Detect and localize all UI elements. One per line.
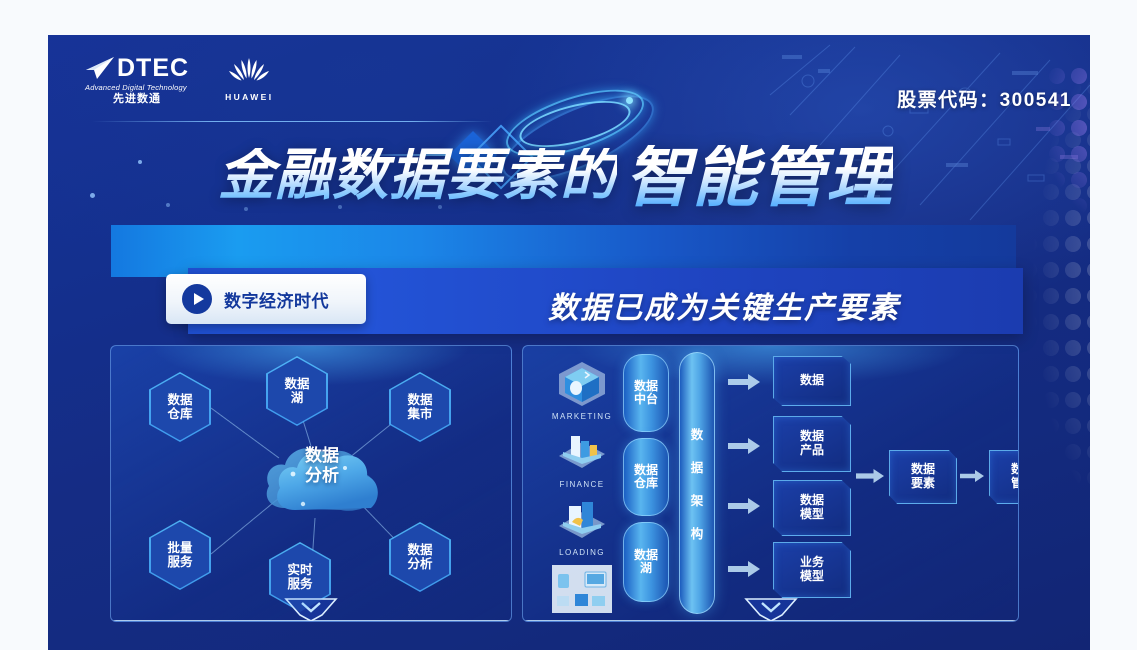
hex-label-line1: 数据 [167, 393, 192, 407]
output-label-wrap: 数据 模型 [800, 494, 824, 522]
arrow-right-icon-6 [960, 468, 984, 484]
dtec-wordmark: DTEC [117, 56, 189, 81]
final-label-wrap: 数据 要素 [911, 463, 935, 491]
final-box-data-management[interactable]: 数据 管理 [989, 450, 1019, 504]
hex-label-wrap: 数据 集市 [389, 372, 451, 442]
loading-icon [555, 496, 609, 544]
huawei-wordmark: HUAWEI [225, 92, 273, 102]
final-label-line2: 管理 [1011, 477, 1019, 491]
arrow-right-icon-3 [728, 498, 760, 514]
title-part-1: 金融数据要素的 [218, 148, 617, 204]
hex-label-line2: 服务 [167, 555, 192, 569]
hex-label-line2: 服务 [287, 577, 312, 591]
output-label-line1: 数据 [800, 494, 824, 508]
spark-dot-3 [166, 203, 170, 207]
output-label-line1: 数据 [800, 430, 824, 444]
pill-label-line2: 湖 [634, 562, 658, 575]
final-label-line1: 数据 [911, 463, 935, 477]
final-label-line1: 数据 [1011, 463, 1019, 477]
banner-headline: 数据已成为关键生产要素 [548, 283, 900, 327]
output-label-wrap: 业务 模型 [800, 556, 824, 584]
pill-data-warehouse[interactable]: 数据 仓库 [623, 438, 669, 516]
huawei-flower-icon [228, 55, 270, 85]
finance-icon [555, 428, 609, 476]
hex-node-data-warehouse[interactable]: 数据 仓库 [149, 372, 211, 442]
spark-dot-1 [138, 160, 142, 164]
cloud-center-label: 数据 分析 [263, 446, 381, 485]
orbit-dot-decoration [626, 97, 633, 104]
hex-node-data-mart[interactable]: 数据 集市 [389, 372, 451, 442]
output-label-wrap: 数据 [800, 374, 824, 388]
hex-label-wrap: 批量 服务 [149, 520, 211, 590]
output-box-data-product[interactable]: 数据 产品 [773, 416, 851, 472]
cloud-label-line1: 数据 [263, 446, 381, 466]
hex-label-wrap: 数据 湖 [266, 356, 328, 426]
finance-label: FINANCE [547, 480, 617, 489]
arrow-right-icon-4 [728, 561, 760, 577]
hex-label-line1: 实时 [287, 563, 312, 577]
data-devices-icon [551, 564, 613, 614]
pill-data-lake[interactable]: 数据 湖 [623, 522, 669, 602]
arch-char-4: 构 [691, 523, 704, 542]
section-tag-label: 数字经济时代 [224, 287, 329, 312]
arch-char-2: 据 [691, 457, 704, 476]
loading-label: LOADING [547, 548, 617, 557]
stock-code-label: 股票代码：300541 [897, 85, 1072, 112]
header-divider [92, 121, 492, 122]
spark-dot-2 [90, 193, 95, 198]
pill-label-wrap: 数据 湖 [634, 549, 658, 575]
arch-char-1: 数 [691, 424, 704, 443]
marketing-icon [555, 360, 609, 408]
marketing-label: MARKETING [547, 412, 617, 421]
hex-label-line1: 数据 [407, 393, 432, 407]
hex-node-batch-service[interactable]: 批量 服务 [149, 520, 211, 590]
arrow-right-icon-1 [728, 374, 760, 390]
arrow-right-icon-5 [856, 468, 884, 484]
output-box-data[interactable]: 数据 [773, 356, 851, 406]
hex-label-wrap: 数据 分析 [389, 522, 451, 592]
hex-node-data-analysis[interactable]: 数据 分析 [389, 522, 451, 592]
screenshot-root: DTEC Advanced Digital Technology 先进数通 [0, 0, 1137, 650]
pill-label-line2: 仓库 [634, 477, 658, 490]
final-label-wrap: 数据 管理 [1011, 463, 1019, 491]
output-label-line1: 业务 [800, 556, 824, 570]
output-label-wrap: 数据 产品 [800, 430, 824, 458]
hex-label-line1: 批量 [167, 541, 192, 555]
hex-node-data-lake[interactable]: 数据 湖 [266, 356, 328, 426]
hex-label-line1: 数据 [284, 377, 309, 391]
title-part-2: 智能管理 [625, 145, 893, 211]
output-label-line1: 数据 [800, 374, 824, 388]
output-label-line2: 模型 [800, 508, 824, 522]
hex-label-line2: 集市 [407, 407, 432, 421]
dtec-logo: DTEC Advanced Digital Technology 先进数通 [85, 55, 189, 105]
pill-label-line2: 中台 [634, 393, 658, 406]
arrow-right-icon-2 [728, 438, 760, 454]
hex-label-line2: 仓库 [167, 407, 192, 421]
section-tag[interactable]: 数字经济时代 [166, 274, 366, 324]
dtec-chinese-name: 先进数通 [85, 94, 189, 105]
cloud-label-line2: 分析 [263, 466, 381, 486]
pill-label-wrap: 数据 仓库 [634, 464, 658, 490]
arch-char-3: 架 [691, 490, 704, 509]
final-box-data-element[interactable]: 数据 要素 [889, 450, 957, 504]
play-icon [182, 284, 212, 314]
final-label-line2: 要素 [911, 477, 935, 491]
dtec-mark-icon [85, 55, 115, 81]
logo-group: DTEC Advanced Digital Technology 先进数通 [85, 55, 273, 105]
output-label-line2: 模型 [800, 570, 824, 584]
pill-data-architecture[interactable]: 数 据 架 构 [679, 352, 715, 614]
hex-label-wrap: 数据 仓库 [149, 372, 211, 442]
output-box-business-model[interactable]: 业务 模型 [773, 542, 851, 598]
pill-label-wrap: 数据 中台 [634, 380, 658, 406]
hex-label-line2: 分析 [407, 557, 432, 571]
dtec-tagline: Advanced Digital Technology [85, 84, 189, 92]
dtec-logo-row: DTEC [85, 55, 189, 81]
huawei-logo: HUAWEI [225, 55, 273, 102]
presentation-slide: DTEC Advanced Digital Technology 先进数通 [48, 35, 1090, 650]
page-title: 金融数据要素的智能管理 [218, 145, 893, 211]
hex-label-line1: 数据 [407, 543, 432, 557]
hex-label-line2: 湖 [284, 391, 309, 405]
chevron-down-icon[interactable] [744, 597, 798, 622]
output-label-line2: 产品 [800, 444, 824, 458]
left-diagram-panel: 数据 分析 数据 仓库 数据 湖 [110, 345, 512, 622]
pill-data-midend[interactable]: 数据 中台 [623, 354, 669, 432]
output-box-data-model[interactable]: 数据 模型 [773, 480, 851, 536]
right-diagram-panel: MARKETING FINANCE LOADING [522, 345, 1019, 622]
